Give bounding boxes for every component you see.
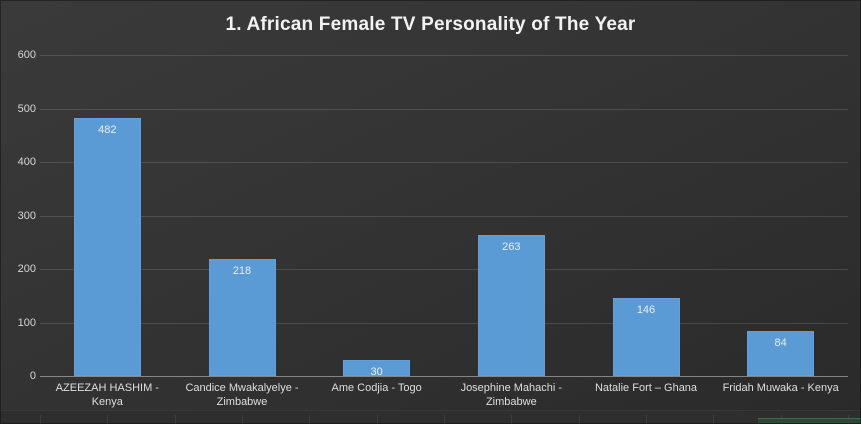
bar-data-label: 482 <box>74 124 141 136</box>
bar-chart-figure: 1. African Female TV Personality of The … <box>0 0 861 424</box>
bar[interactable]: 30 <box>343 360 410 376</box>
footer-tick <box>511 415 512 424</box>
y-axis-tick-label: 600 <box>2 49 36 61</box>
bar[interactable]: 146 <box>613 298 680 376</box>
x-axis-category-label: Ame Codjia - Togo <box>310 381 444 395</box>
bar[interactable]: 218 <box>209 259 276 376</box>
gridline <box>40 323 848 324</box>
footer-tick <box>242 415 243 424</box>
footer-accent-bar <box>758 418 861 423</box>
chart-title: 1. African Female TV Personality of The … <box>0 14 861 36</box>
bar[interactable]: 482 <box>74 118 141 376</box>
footer-tick <box>646 415 647 424</box>
y-axis-tick-label: 0 <box>2 370 36 382</box>
gridline <box>40 162 848 163</box>
footer-tick <box>40 415 41 424</box>
x-axis-category-label: Fridah Muwaka - Kenya <box>714 381 848 395</box>
x-axis-category-label: Josephine Mahachi - Zimbabwe <box>444 381 578 409</box>
gridline <box>40 216 848 217</box>
x-axis-category-label: Natalie Fort – Ghana <box>579 381 713 395</box>
footer-tick <box>713 415 714 424</box>
gridline <box>40 269 848 270</box>
footer-tick <box>579 415 580 424</box>
gridline <box>40 55 848 56</box>
footer-tick <box>107 415 108 424</box>
footer-tick <box>377 415 378 424</box>
bar-data-label: 263 <box>478 241 545 253</box>
bar[interactable]: 84 <box>747 331 814 376</box>
y-axis-tick-label: 100 <box>2 317 36 329</box>
y-axis: 0100200300400500600 <box>0 55 36 376</box>
bar-data-label: 146 <box>613 304 680 316</box>
x-axis-category-label: AZEEZAH HASHIM - Kenya <box>40 381 174 409</box>
axis-baseline <box>40 376 848 377</box>
y-axis-tick-label: 400 <box>2 156 36 168</box>
bar-data-label: 30 <box>343 366 410 378</box>
bar-data-label: 84 <box>747 337 814 349</box>
gridline <box>40 109 848 110</box>
plot-area: 4822183026314684 <box>40 55 848 376</box>
y-axis-tick-label: 500 <box>2 103 36 115</box>
footer-tick <box>175 415 176 424</box>
bar[interactable]: 263 <box>478 235 545 376</box>
y-axis-tick-label: 200 <box>2 263 36 275</box>
footer-tick <box>309 415 310 424</box>
footer-strip <box>0 410 861 424</box>
x-axis-category-label: Candice Mwakalyelye - Zimbabwe <box>175 381 309 409</box>
footer-tick <box>444 415 445 424</box>
bar-data-label: 218 <box>209 265 276 277</box>
y-axis-tick-label: 300 <box>2 210 36 222</box>
